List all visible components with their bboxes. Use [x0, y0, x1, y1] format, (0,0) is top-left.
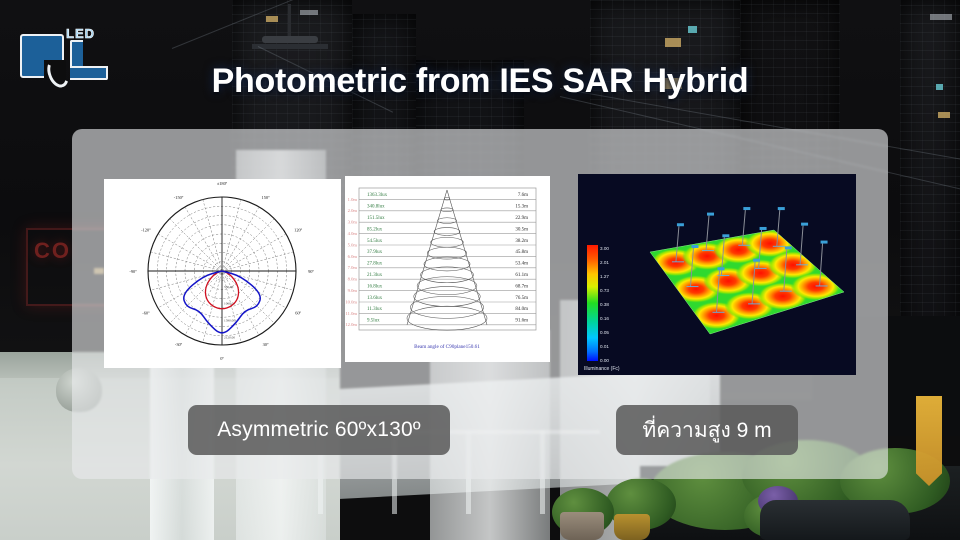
svg-text:9.5lux: 9.5lux [367, 319, 380, 324]
svg-text:22.9m: 22.9m [515, 216, 528, 221]
svg-text:2.0m: 2.0m [348, 208, 358, 213]
svg-text:5.0m: 5.0m [348, 242, 358, 247]
illuminance-3d-svg: 3.002.011.270.730.380.160.050.010.00 Ill… [578, 174, 856, 375]
svg-text:53.4m: 53.4m [515, 262, 528, 267]
svg-text:27.8lux: 27.8lux [367, 262, 383, 267]
lit-window [930, 14, 952, 20]
svg-text:120º: 120º [294, 228, 303, 233]
svg-text:8.0m: 8.0m [348, 277, 358, 282]
svg-text:16.8lux: 16.8lux [367, 284, 383, 289]
svg-text:90º: 90º [308, 269, 314, 274]
svg-text:85.2lux: 85.2lux [367, 227, 383, 232]
svg-text:30º: 30º [263, 342, 269, 347]
svg-text:1590.00: 1590.00 [224, 318, 235, 322]
plant-pot [560, 512, 604, 540]
colorbar-tick-labels: 3.002.011.270.730.380.160.050.010.00 [600, 246, 609, 363]
polar-chart-svg: ±180º-150º150º-120º120º-90º90º-60º60º-30… [104, 179, 341, 368]
svg-text:0.16: 0.16 [600, 316, 609, 321]
svg-text:2.01: 2.01 [600, 260, 609, 265]
parked-car [760, 500, 910, 540]
lit-window [266, 16, 278, 22]
beam-angle-rows: 1.0m1363.3lux7.6m2.0m340.8lux15.3m3.0m15… [345, 193, 536, 327]
svg-text:150º: 150º [262, 195, 271, 200]
svg-text:-60º: -60º [142, 311, 150, 316]
svg-text:9.0m: 9.0m [348, 288, 358, 293]
svg-text:61.1m: 61.1m [515, 273, 528, 278]
plant-pot [614, 514, 650, 540]
svg-text:12.0m: 12.0m [345, 322, 357, 327]
lit-window [300, 10, 318, 15]
svg-text:151.5lux: 151.5lux [367, 216, 385, 221]
svg-text:±180º: ±180º [217, 181, 228, 186]
colorbar [587, 245, 598, 361]
svg-text:530.00: 530.00 [224, 285, 234, 289]
svg-text:30.5m: 30.5m [515, 227, 528, 232]
svg-text:-150º: -150º [174, 195, 184, 200]
caption-asymmetric: Asymmetric 60ºx130º [188, 405, 450, 455]
svg-text:7.6m: 7.6m [518, 193, 528, 198]
svg-text:21.3lux: 21.3lux [367, 273, 383, 278]
svg-text:3.0m: 3.0m [348, 220, 358, 225]
svg-text:91.6m: 91.6m [515, 319, 528, 324]
svg-text:45.8m: 45.8m [515, 250, 528, 255]
colorbar-label: Illuminance (Fc) [584, 366, 620, 372]
svg-text:37.9lux: 37.9lux [367, 250, 383, 255]
svg-text:60º: 60º [295, 311, 301, 316]
svg-text:1.27: 1.27 [600, 274, 609, 279]
caption-mounting-height: ที่ความสูง 9 m [616, 405, 798, 455]
svg-text:-120º: -120º [141, 228, 151, 233]
flag [916, 396, 942, 486]
illuminance-hotspots [651, 230, 841, 330]
svg-text:4.0m: 4.0m [348, 231, 358, 236]
svg-text:0.73: 0.73 [600, 288, 609, 293]
svg-text:84.0m: 84.0m [515, 307, 528, 312]
svg-text:13.6lux: 13.6lux [367, 296, 383, 301]
lit-window [665, 38, 681, 47]
svg-text:7.0m: 7.0m [348, 265, 358, 270]
svg-text:38.2m: 38.2m [515, 239, 528, 244]
polar-light-distribution-chart: ±180º-150º150º-120º120º-90º90º-60º60º-30… [104, 179, 341, 368]
beam-angle-caption: Beam angle of C90plane150.61 [414, 343, 480, 350]
mast [288, 4, 291, 38]
svg-text:-30º: -30º [175, 342, 183, 347]
mast-arm [262, 36, 318, 43]
lit-window [938, 112, 950, 118]
svg-text:76.5m: 76.5m [515, 296, 528, 301]
svg-text:2120.00: 2120.00 [224, 335, 235, 339]
page-title: Photometric from IES SAR Hybrid [0, 62, 960, 101]
beam-angle-chart: 1.0m1363.3lux7.6m2.0m340.8lux15.3m3.0m15… [345, 176, 550, 362]
svg-text:11.0m: 11.0m [346, 311, 358, 316]
svg-text:0.01: 0.01 [600, 344, 609, 349]
beam-angle-svg: 1.0m1363.3lux7.6m2.0m340.8lux15.3m3.0m15… [345, 176, 550, 362]
svg-text:-90º: -90º [129, 269, 137, 274]
svg-text:15.3m: 15.3m [515, 205, 528, 210]
svg-text:3.00: 3.00 [600, 246, 609, 251]
svg-text:0.38: 0.38 [600, 302, 609, 307]
svg-text:68.7m: 68.7m [515, 284, 528, 289]
logo-led-text: LED [66, 26, 95, 41]
illuminance-3d-chart: 3.002.011.270.730.380.160.050.010.00 Ill… [578, 174, 856, 375]
svg-text:54.5lux: 54.5lux [367, 239, 383, 244]
svg-text:6.0m: 6.0m [348, 254, 358, 259]
svg-text:0.05: 0.05 [600, 330, 609, 335]
svg-text:10.0m: 10.0m [345, 299, 357, 304]
svg-text:1363.3lux: 1363.3lux [367, 193, 388, 198]
svg-text:1.0m: 1.0m [348, 197, 358, 202]
svg-text:0º: 0º [220, 356, 224, 361]
svg-text:0.00: 0.00 [600, 358, 609, 363]
lit-window [688, 26, 697, 33]
svg-text:11.3lux: 11.3lux [367, 307, 382, 312]
svg-text:340.8lux: 340.8lux [367, 205, 385, 210]
